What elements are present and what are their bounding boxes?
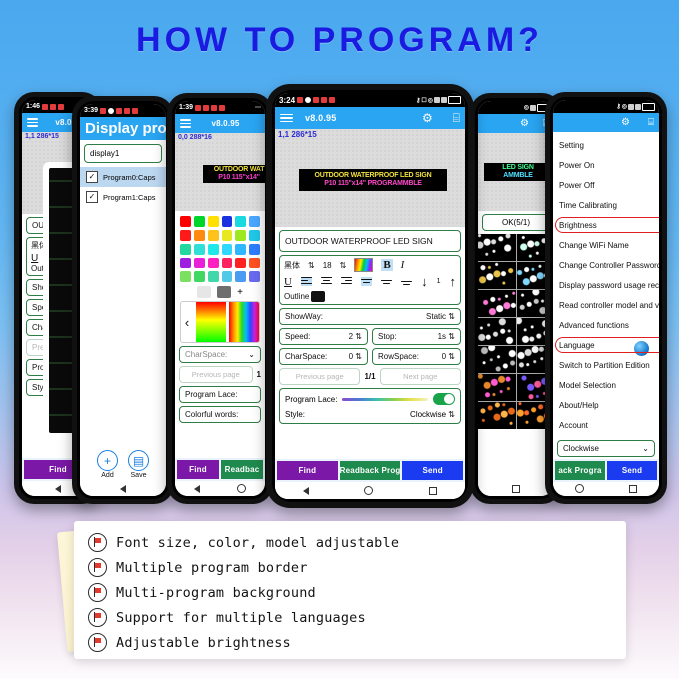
signal-icon xyxy=(530,105,536,111)
sim-icon: ☐ xyxy=(421,97,426,104)
phone-6-body: SettingPower OnPower OffTime Calibrating… xyxy=(553,132,659,440)
menu-item[interactable]: Advanced functions xyxy=(553,315,659,335)
app-version: v8.0.95 xyxy=(211,119,239,128)
menu-item[interactable]: Brightness xyxy=(553,215,659,235)
phone-5-body: LED SIGN AMMBLE OK(5/1) xyxy=(478,133,554,481)
led-line-2: P10 115"x14" xyxy=(218,174,260,182)
menu-item-label: Power Off xyxy=(559,181,594,190)
hamburger-icon[interactable] xyxy=(180,119,191,128)
notification-icon xyxy=(297,97,303,103)
stop-label: Stop: xyxy=(378,332,397,341)
recents-icon[interactable] xyxy=(429,487,437,495)
color-swatch[interactable] xyxy=(194,216,205,227)
phone-5-navbar xyxy=(478,481,554,496)
led-preview[interactable]: LED SIGN AMMBLE xyxy=(478,133,554,211)
find-button[interactable]: Find xyxy=(177,460,219,479)
style-label: Style: xyxy=(285,410,305,419)
led-coordinates: 0,0 288*16 xyxy=(178,134,212,141)
back-icon[interactable] xyxy=(303,487,309,495)
outline-label: Outline xyxy=(284,292,309,301)
home-icon[interactable] xyxy=(237,484,246,493)
outline-color-swatch[interactable] xyxy=(311,291,325,302)
colorful-words-label: Colorful words: xyxy=(185,410,238,419)
feature-label: Adjustable brightness xyxy=(116,635,291,651)
notification-icon xyxy=(124,108,130,114)
color-swatch[interactable] xyxy=(235,230,246,241)
chevron-left-icon[interactable]: ‹ xyxy=(181,302,193,342)
signal-icon xyxy=(635,104,641,110)
notification-icon xyxy=(211,105,217,111)
list-item-label: Program0:Caps xyxy=(103,173,156,182)
add-label: Add xyxy=(101,472,113,479)
poster-stage: HOW TO PROGRAM? 1:46 v8.0 xyxy=(0,0,679,679)
phone-6-bezel: ⚷ ◎ ⚙ ⌸ SettingPower OnPower OffTim xyxy=(550,97,662,499)
phone-4-bezel: 3:24 ⚷ ☐ ◎ xyxy=(272,90,468,502)
save-icon: ▤ xyxy=(128,450,149,471)
hamburger-icon[interactable] xyxy=(280,114,293,123)
feature-label: Support for multiple languages xyxy=(116,610,366,626)
phone-2-body: ✓ Program0:Caps ✓ Program1:Caps xyxy=(80,167,166,446)
phone-2-statusbar: 3:39 xyxy=(80,104,166,117)
chevron-down-icon[interactable]: ⌄ xyxy=(248,350,255,359)
notification-icon xyxy=(108,108,114,114)
pager: Previous page 1/1 Next page xyxy=(279,368,461,385)
flag-icon xyxy=(88,583,107,602)
charspace-label: CharSpace: xyxy=(185,350,227,359)
notification-icon xyxy=(58,104,64,110)
wifi-icon: ◎ xyxy=(622,103,627,110)
arrow-up-icon[interactable]: ↑ xyxy=(450,274,457,289)
style-field[interactable]: Clockwise ⌄ xyxy=(557,440,655,457)
globe-icon[interactable] xyxy=(634,341,649,356)
color-swatch[interactable] xyxy=(194,258,205,269)
gear-icon[interactable]: ⚙ xyxy=(422,112,433,124)
italic-button[interactable]: I xyxy=(401,259,405,271)
list-item[interactable]: ✓ Program0:Caps xyxy=(80,167,166,187)
phone-6: ⚷ ◎ ⚙ ⌸ SettingPower OnPower OffTim xyxy=(545,92,667,504)
menu-item-label: Display password usage record xyxy=(559,281,659,290)
settings-menu[interactable]: SettingPower OnPower OffTime Calibrating… xyxy=(553,132,659,440)
style-stepper[interactable]: ⇅ xyxy=(448,410,455,419)
align-right-icon[interactable] xyxy=(341,277,352,286)
phone-4-appbar: v8.0.95 ⚙ ⌸ xyxy=(275,107,465,129)
phone-2-bezel: 3:39 Display pro display1 ✓ Program0:Cap… xyxy=(77,101,169,499)
color-swatch[interactable] xyxy=(180,258,191,269)
pager: Previous page 1 xyxy=(179,366,261,383)
format-toolbar: 黑体 ⇅ 18 ⇅ B I U xyxy=(279,255,461,305)
underline-icon[interactable]: U xyxy=(31,253,38,264)
style-row: Style: Clockwise ⇅ xyxy=(285,410,455,419)
phone-5-appbar: ⚙ ⌸ xyxy=(478,114,554,133)
menu-item[interactable]: Change WiFi Name xyxy=(553,235,659,255)
notification-icon xyxy=(132,108,138,114)
phone-3-appbar: v8.0.95 xyxy=(175,114,265,133)
color-swatch[interactable] xyxy=(235,216,246,227)
battery-icon xyxy=(448,96,461,104)
arrow-down-icon[interactable]: ↓ xyxy=(421,274,428,289)
led-line-1: OUTDOOR WATERPROOF LED SIGN xyxy=(315,172,432,180)
color-swatch[interactable] xyxy=(180,271,191,282)
led-sign: OUTDOOR WATERPROOF LED SIGN P10 115"x14"… xyxy=(299,169,447,191)
menu-item-label: Account xyxy=(559,421,588,430)
screen-title: Display pro xyxy=(80,117,166,140)
align-left-icon[interactable] xyxy=(301,277,312,286)
menu-item[interactable]: Model Selection xyxy=(553,375,659,395)
gradient-picker[interactable]: ‹ xyxy=(180,301,260,343)
charspace-value: 0 xyxy=(349,352,353,361)
back-icon[interactable] xyxy=(194,485,200,493)
program-lace-label: Program Lace: xyxy=(285,395,337,404)
phone-2: 3:39 Display pro display1 ✓ Program0:Cap… xyxy=(72,96,174,504)
program-lace-label: Program Lace: xyxy=(185,390,237,399)
led-line-1: OUTDOOR WAT xyxy=(214,166,265,174)
hue-bar[interactable] xyxy=(229,302,259,342)
color-palette[interactable] xyxy=(175,211,265,284)
font-stepper[interactable]: ⇅ xyxy=(308,261,315,270)
color-swatch[interactable] xyxy=(249,230,260,241)
feature-item: Adjustable brightness xyxy=(88,633,626,652)
menu-item[interactable]: Account xyxy=(553,415,659,435)
status-time: 1:46 xyxy=(26,103,40,110)
notification-icon xyxy=(195,105,201,111)
status-time: 3:24 xyxy=(279,96,295,105)
charspace-field[interactable]: CharSpace: ⌄ xyxy=(179,346,261,363)
charspace-label: CharSpace: xyxy=(285,352,327,361)
phone-3: 1:39 ⋯ v8.0.95 0,0 288*16 xyxy=(167,93,273,504)
grid-icon[interactable]: ⌸ xyxy=(453,112,460,124)
key-icon: ⚷ xyxy=(616,103,620,110)
menu-item[interactable]: Power On xyxy=(553,155,659,175)
phone-4: 3:24 ⚷ ☐ ◎ xyxy=(266,84,474,508)
plus-icon: + xyxy=(97,450,118,471)
menu-item[interactable]: Setting xyxy=(553,135,659,155)
list-item[interactable]: ✓ Program1:Caps xyxy=(80,187,166,207)
color-swatch[interactable] xyxy=(180,216,191,227)
color-swatch[interactable] xyxy=(222,244,233,255)
notification-icon xyxy=(203,105,209,111)
led-line-2: P10 115"x14" PROGRAMMBLE xyxy=(324,180,422,188)
effects-grid[interactable] xyxy=(478,234,554,429)
notification-icon xyxy=(321,97,327,103)
effect-thumbnail[interactable] xyxy=(478,290,516,317)
showway-value: Static xyxy=(426,312,446,321)
feature-label: Multiple program border xyxy=(116,560,308,576)
color-swatch[interactable] xyxy=(249,258,260,269)
ok-row: OK(5/1) xyxy=(478,211,554,234)
grey-swatch[interactable] xyxy=(217,286,231,298)
send-button[interactable]: Send xyxy=(607,461,657,480)
previous-page-button[interactable]: Previous page xyxy=(179,366,253,383)
notification-icon xyxy=(329,97,335,103)
color-swatch[interactable] xyxy=(235,258,246,269)
led-sign: OUTDOOR WAT P10 115"x14" xyxy=(203,165,265,183)
menu-item-label: Switch to Partition Edition xyxy=(559,361,650,370)
wifi-icon: ◎ xyxy=(428,97,433,104)
speed-stepper[interactable]: ⇅ xyxy=(355,332,362,341)
effect-thumbnail[interactable] xyxy=(478,346,516,373)
color-swatch[interactable] xyxy=(194,271,205,282)
phone-3-navbar xyxy=(175,481,265,496)
gear-icon[interactable]: ⚙ xyxy=(520,119,529,129)
color-swatch[interactable] xyxy=(194,230,205,241)
color-swatch[interactable] xyxy=(249,216,260,227)
align-center-icon[interactable] xyxy=(321,277,332,286)
phone-2-navbar xyxy=(80,481,166,496)
rowspace-value: 0 xyxy=(442,352,446,361)
checkbox-icon[interactable]: ✓ xyxy=(86,171,98,183)
font-name[interactable]: 黑体 xyxy=(284,260,300,271)
page-number: 1/1 xyxy=(364,372,375,381)
program-lace-field[interactable]: Program Lace: xyxy=(179,386,261,403)
rowspace-field[interactable]: RowSpace: 0 ⇅ xyxy=(372,348,461,365)
menu-item[interactable]: Read controller model and version xyxy=(553,295,659,315)
back-icon[interactable] xyxy=(120,485,126,493)
style-value: Clockwise xyxy=(563,444,599,453)
color-swatch[interactable] xyxy=(208,271,219,282)
feature-item: Font size, color, model adjustable xyxy=(88,533,626,552)
flag-icon xyxy=(88,558,107,577)
effect-thumbnail[interactable] xyxy=(478,374,516,401)
notification-icon xyxy=(219,105,225,111)
phone-6-statusbar: ⚷ ◎ xyxy=(553,100,659,113)
add-button[interactable]: + Add xyxy=(97,450,118,479)
recents-icon[interactable] xyxy=(512,485,520,493)
color-swatch[interactable] xyxy=(208,230,219,241)
phone-4-body: 1,1 286*15 OUTDOOR WATERPROOF LED SIGN P… xyxy=(275,129,465,459)
notification-icon xyxy=(313,97,319,103)
phone-3-bezel: 1:39 ⋯ v8.0.95 0,0 288*16 xyxy=(172,98,268,499)
recents-icon[interactable] xyxy=(629,485,637,493)
menu-item[interactable]: Exit xyxy=(553,435,659,440)
notification-icon xyxy=(42,104,48,110)
program-lace-box: Program Lace: Style: Clockwise ⇅ xyxy=(279,388,461,424)
font-name[interactable]: 黑体 xyxy=(31,240,47,251)
feature-item: Support for multiple languages xyxy=(88,608,626,627)
menu-item-label: Power On xyxy=(559,161,595,170)
speed-value: 2 xyxy=(349,332,353,341)
readback-program-button[interactable]: Readback Program xyxy=(340,461,401,480)
led-coordinates: 1,1 286*15 xyxy=(25,133,59,140)
led-preview[interactable]: 1,1 286*15 OUTDOOR WATERPROOF LED SIGN P… xyxy=(275,129,465,227)
program-lace-row: Program Lace: xyxy=(285,393,455,405)
showway-label: ShowWay: xyxy=(285,312,323,321)
menu-item-label: Advanced functions xyxy=(559,321,629,330)
menu-item-label: Setting xyxy=(559,141,584,150)
align-top-icon[interactable] xyxy=(361,277,372,286)
list-item-label: Program1:Caps xyxy=(103,193,156,202)
showway-field[interactable]: ShowWay: Static ⇅ xyxy=(279,308,461,325)
flag-icon xyxy=(88,533,107,552)
feature-item: Multiple program border xyxy=(88,558,626,577)
color-swatch[interactable] xyxy=(208,244,219,255)
space-row: CharSpace: 0 ⇅ RowSpace: 0 ⇅ xyxy=(279,348,461,365)
charspace-stepper[interactable]: ⇅ xyxy=(355,352,362,361)
save-button[interactable]: ▤ Save xyxy=(128,450,149,479)
hamburger-icon[interactable] xyxy=(27,118,38,127)
color-swatch[interactable] xyxy=(180,230,191,241)
notification-icon xyxy=(305,97,311,103)
signal-icon xyxy=(441,97,447,103)
feature-label: Multi-program background xyxy=(116,585,316,601)
underline-button[interactable]: U xyxy=(284,276,292,288)
signal-icon xyxy=(434,97,440,103)
color-swatch[interactable] xyxy=(249,244,260,255)
color-swatch[interactable] xyxy=(222,271,233,282)
gradient-square[interactable] xyxy=(196,302,226,342)
charspace-field[interactable]: CharSpace: 0 ⇅ xyxy=(279,348,368,365)
phone-4-actionbar: Find Readback Program Send xyxy=(275,459,465,482)
flag-icon xyxy=(88,633,107,652)
speed-field[interactable]: Speed: 2 ⇅ xyxy=(279,328,368,345)
effect-thumbnail[interactable] xyxy=(478,234,516,261)
colorful-words-field[interactable]: Colorful words: xyxy=(179,406,261,423)
led-preview[interactable]: 0,0 288*16 OUTDOOR WAT P10 115"x14" xyxy=(175,133,265,211)
readback-button[interactable]: ack Progra xyxy=(555,461,605,480)
readback-button[interactable]: Readbac xyxy=(221,460,263,479)
back-icon[interactable] xyxy=(55,485,61,493)
lace-gradient[interactable] xyxy=(342,398,428,401)
menu-item[interactable]: Switch to Partition Edition xyxy=(553,355,659,375)
showway-stepper[interactable]: ⇅ xyxy=(448,312,455,321)
phone-3-screen: 1:39 ⋯ v8.0.95 0,0 288*16 xyxy=(175,101,265,496)
grey-swatches[interactable]: + xyxy=(175,284,265,301)
lace-toggle[interactable] xyxy=(433,393,455,405)
phone-3-body: 0,0 288*16 OUTDOOR WAT P10 115"x14" + ‹ xyxy=(175,133,265,458)
phone-3-actionbar: Find Readbac xyxy=(175,458,265,481)
key-icon: ⚷ xyxy=(416,97,420,104)
checkbox-icon[interactable]: ✓ xyxy=(86,191,98,203)
notification-icon xyxy=(116,108,122,114)
menu-item[interactable]: Time Calibrating xyxy=(553,195,659,215)
phone-4-navbar xyxy=(275,482,465,499)
phone-6-screen: ⚷ ◎ ⚙ ⌸ SettingPower OnPower OffTim xyxy=(553,100,659,496)
menu-item[interactable]: About/Help xyxy=(553,395,659,415)
menu-item-label: Brightness xyxy=(559,221,597,230)
menu-item-label: Change WiFi Name xyxy=(559,241,629,250)
phone-6-navbar xyxy=(553,482,659,496)
color-swatch[interactable] xyxy=(235,244,246,255)
color-swatch[interactable] xyxy=(180,244,191,255)
page-number: 1 xyxy=(257,370,261,379)
wifi-icon: ◎ xyxy=(524,104,529,111)
menu-item-label: Read controller model and version xyxy=(559,301,659,310)
status-time: 3:39 xyxy=(84,107,98,114)
display-name-input[interactable]: display1 xyxy=(84,144,162,163)
led-coordinates: 1,1 286*15 xyxy=(278,130,317,139)
effect-thumbnail[interactable] xyxy=(478,402,516,429)
feature-label: Font size, color, model adjustable xyxy=(116,535,399,551)
chevron-down-icon[interactable]: ⌄ xyxy=(642,444,649,453)
stop-stepper[interactable]: ⇅ xyxy=(448,332,455,341)
home-icon[interactable] xyxy=(575,484,584,493)
menu-item[interactable]: Power Off xyxy=(553,175,659,195)
ok-button[interactable]: OK(5/1) xyxy=(482,214,550,231)
menu-item-label: About/Help xyxy=(559,401,599,410)
phone-2-actionbar: + Add ▤ Save xyxy=(80,446,166,481)
gear-icon[interactable]: ⚙ xyxy=(621,118,630,128)
effect-thumbnail[interactable] xyxy=(478,318,516,345)
signal-icon xyxy=(628,104,634,110)
page-title: HOW TO PROGRAM? xyxy=(0,21,679,60)
font-size[interactable]: 18 xyxy=(323,261,332,270)
phone-6-actionbar: ack Progra Send xyxy=(553,459,659,482)
color-swatch[interactable] xyxy=(222,258,233,269)
find-button[interactable]: Find xyxy=(277,461,338,480)
notification-icon xyxy=(50,104,56,110)
text-input[interactable]: OUTDOOR WATERPROOF LED SIGN xyxy=(279,230,461,252)
color-swatch[interactable] xyxy=(208,216,219,227)
color-swatch[interactable] xyxy=(222,216,233,227)
effect-thumbnail[interactable] xyxy=(478,262,516,289)
previous-page-button[interactable]: Previous page xyxy=(279,368,360,385)
rowspace-stepper[interactable]: ⇅ xyxy=(448,352,455,361)
menu-item-label: Time Calibrating xyxy=(559,201,617,210)
color-swatch[interactable] xyxy=(235,271,246,282)
size-stepper[interactable]: ⇅ xyxy=(340,261,347,270)
line-count: 1 xyxy=(437,278,441,285)
home-icon[interactable] xyxy=(364,486,373,495)
grey-swatch[interactable] xyxy=(197,286,211,298)
phone-6-appbar: ⚙ ⌸ xyxy=(553,113,659,132)
battery-icon xyxy=(642,103,655,111)
phone-3-statusbar: 1:39 ⋯ xyxy=(175,101,265,114)
features-card: Font size, color, model adjustableMultip… xyxy=(74,521,626,659)
status-time: 1:39 xyxy=(179,104,193,111)
rowspace-label: RowSpace: xyxy=(378,352,419,361)
app-version: v8.0 xyxy=(55,118,71,127)
stop-value: 1s xyxy=(438,332,446,341)
bold-button[interactable]: B xyxy=(381,259,392,271)
text-color-swatch[interactable] xyxy=(354,258,373,272)
style-value: Clockwise xyxy=(410,410,446,419)
menu-item-label: Model Selection xyxy=(559,381,616,390)
align-middle-icon[interactable] xyxy=(381,277,392,286)
menu-item-label: Change Controller Password xyxy=(559,261,659,270)
speed-label: Speed: xyxy=(285,332,310,341)
app-version: v8.0.95 xyxy=(305,113,336,123)
menu-item-label: Language xyxy=(559,341,595,350)
menu-item[interactable]: Change Controller Password xyxy=(553,255,659,275)
send-button[interactable]: Send xyxy=(402,461,463,480)
phone-5-screen: ◎ ⚙ ⌸ LED SIGN AMM xyxy=(478,101,554,496)
align-bottom-icon[interactable] xyxy=(401,277,412,286)
phone-2-screen: 3:39 Display pro display1 ✓ Program0:Cap… xyxy=(80,104,166,496)
color-swatch[interactable] xyxy=(208,258,219,269)
color-swatch[interactable] xyxy=(249,271,260,282)
flag-icon xyxy=(88,608,107,627)
phone-4-screen: 3:24 ⚷ ☐ ◎ xyxy=(275,93,465,499)
phone-5-statusbar: ◎ xyxy=(478,101,554,114)
save-label: Save xyxy=(131,472,147,479)
grid-icon[interactable]: ⌸ xyxy=(648,118,654,128)
color-swatch[interactable] xyxy=(194,244,205,255)
led-sign: LED SIGN AMMBLE xyxy=(484,163,552,181)
menu-item[interactable]: Display password usage record xyxy=(553,275,659,295)
feature-item: Multi-program background xyxy=(88,583,626,602)
phone-4-statusbar: 3:24 ⚷ ☐ ◎ xyxy=(275,93,465,107)
speed-stop-row: Speed: 2 ⇅ Stop: 1s ⇅ xyxy=(279,328,461,345)
notification-icon xyxy=(100,108,106,114)
next-page-button[interactable]: Next page xyxy=(380,368,461,385)
menu-item[interactable]: Language xyxy=(553,335,659,355)
add-color-button[interactable]: + xyxy=(237,287,243,298)
color-swatch[interactable] xyxy=(222,230,233,241)
stop-field[interactable]: Stop: 1s ⇅ xyxy=(372,328,461,345)
